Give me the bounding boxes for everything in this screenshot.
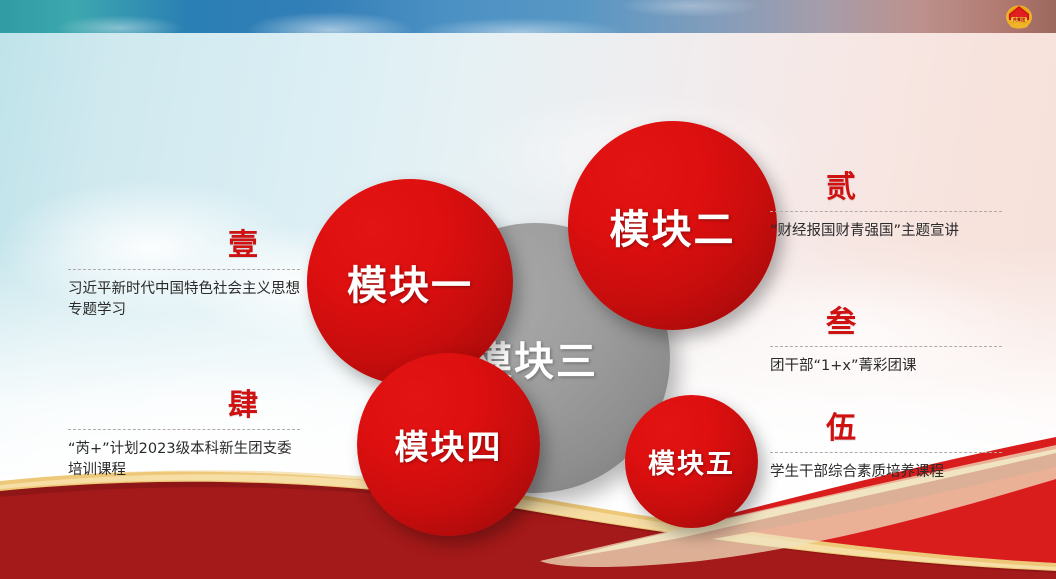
- label-divider-five: [770, 452, 1002, 453]
- label-text-one: 习近平新时代中国特色社会主义思想专题学习: [68, 279, 300, 321]
- label-text-five: 学生干部综合素质培养课程: [770, 462, 1002, 483]
- module-circle-two-label: 模块二: [610, 197, 736, 255]
- module-circle-five-label: 模块五: [648, 442, 735, 481]
- label-divider-four: [68, 429, 300, 430]
- slide-canvas: 共青团: [0, 0, 1056, 579]
- label-text-two: “财经报国财青强国”主题宣讲: [770, 221, 1002, 242]
- label-block-three: 叁 团干部“1+x”菁彩团课: [770, 306, 1002, 377]
- label-numeral-four: 肆: [68, 389, 300, 423]
- module-circle-two[interactable]: 模块二: [568, 121, 777, 330]
- label-divider-one: [68, 269, 300, 270]
- top-strip-cloud-overlay: [0, 0, 1056, 33]
- module-circle-four[interactable]: 模块四: [357, 353, 540, 536]
- module-circle-one[interactable]: 模块一: [307, 179, 513, 385]
- label-numeral-three: 叁: [770, 306, 1002, 340]
- module-circle-five[interactable]: 模块五: [625, 395, 758, 528]
- label-numeral-two: 贰: [770, 171, 1002, 205]
- module-circle-one-label: 模块一: [347, 253, 473, 311]
- label-block-two: 贰 “财经报国财青强国”主题宣讲: [770, 171, 1002, 242]
- label-numeral-one: 壹: [68, 229, 300, 263]
- emblem-badge-icon: 共青团: [1004, 2, 1034, 30]
- label-divider-three: [770, 346, 1002, 347]
- label-block-one: 壹 习近平新时代中国特色社会主义思想专题学习: [68, 229, 300, 321]
- label-text-three: 团干部“1+x”菁彩团课: [770, 356, 1002, 377]
- label-block-five: 伍 学生干部综合素质培养课程: [770, 412, 1002, 483]
- label-block-four: 肆 “芮+”计划2023级本科新生团支委培训课程: [68, 389, 300, 481]
- label-divider-two: [770, 211, 1002, 212]
- label-text-four: “芮+”计划2023级本科新生团支委培训课程: [68, 439, 300, 481]
- module-circle-four-label: 模块四: [395, 420, 503, 469]
- svg-text:共青团: 共青团: [1013, 16, 1026, 23]
- background-canvas: 模块三 模块一 模块二 模块四 模块五 壹 习近平新时代中国特色社会主义思想专题…: [0, 33, 1056, 579]
- label-numeral-five: 伍: [770, 412, 1002, 446]
